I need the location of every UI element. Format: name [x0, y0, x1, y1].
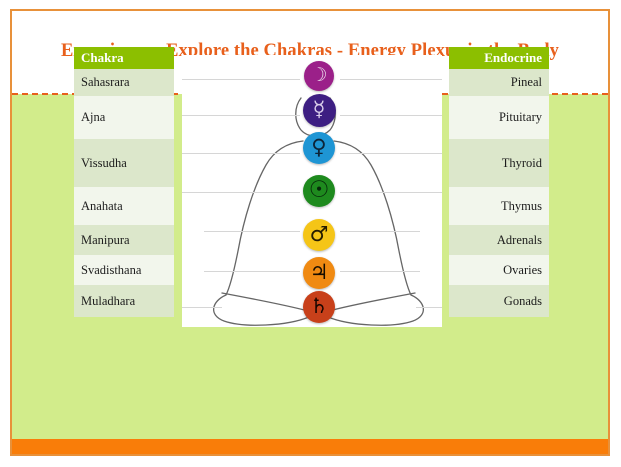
slide-canvas: Experience - Explore the Chakras - Energ…	[10, 9, 610, 456]
connector-line-left	[182, 115, 300, 116]
chakra-label: Sahasrara	[81, 75, 130, 90]
crown-chakra-moon-symbol-icon: ☽	[310, 66, 327, 85]
endocrine-row: Adrenals	[449, 225, 549, 255]
chakra-table: Chakra SahasraraAjnaVissudhaAnahataManip…	[74, 47, 174, 317]
chakra-row: Vissudha	[74, 139, 174, 187]
endocrine-table-rows: PinealPituitaryThyroidThymusAdrenalsOvar…	[449, 69, 549, 317]
chakra-label: Svadisthana	[81, 263, 141, 278]
connector-line-right	[340, 153, 442, 154]
endocrine-row: Thymus	[449, 187, 549, 225]
connector-line-right	[340, 79, 442, 80]
root-chakra-saturn: ♄	[303, 291, 335, 323]
endocrine-table-header: Endocrine	[449, 47, 549, 69]
endocrine-label: Gonads	[504, 294, 542, 309]
chakra-row: Sahasrara	[74, 69, 174, 96]
chakra-label: Ajna	[81, 110, 105, 125]
endocrine-row: Thyroid	[449, 139, 549, 187]
sacral-chakra-jupiter-symbol-icon: ♃	[310, 262, 329, 283]
endocrine-label: Thymus	[501, 199, 542, 214]
chakra-label: Anahata	[81, 199, 123, 214]
endocrine-label: Adrenals	[497, 233, 542, 248]
endocrine-row: Pineal	[449, 69, 549, 96]
connector-line-left	[182, 307, 222, 308]
endocrine-label: Thyroid	[502, 156, 542, 171]
solar-plexus-chakra-mars: ♂	[303, 219, 335, 251]
chakra-label: Muladhara	[81, 294, 135, 309]
endocrine-label: Ovaries	[503, 263, 542, 278]
connector-line-right	[340, 115, 442, 116]
connector-line-right	[340, 231, 420, 232]
chakra-row: Muladhara	[74, 285, 174, 317]
chakra-row: Ajna	[74, 96, 174, 139]
endocrine-row: Ovaries	[449, 255, 549, 285]
chakra-table-header: Chakra	[74, 47, 174, 69]
sacral-chakra-jupiter: ♃	[303, 257, 335, 289]
endocrine-label: Pineal	[511, 75, 542, 90]
chakra-figure-panel: ☽☿♀☉♂♃♄	[182, 55, 442, 327]
chakra-row: Svadisthana	[74, 255, 174, 285]
endocrine-table: Endocrine PinealPituitaryThyroidThymusAd…	[449, 47, 549, 317]
heart-chakra-sun: ☉	[303, 175, 335, 207]
endocrine-row: Pituitary	[449, 96, 549, 139]
chakra-label: Vissudha	[81, 156, 127, 171]
throat-chakra-venus: ♀	[303, 132, 335, 164]
chakra-label: Manipura	[81, 233, 130, 248]
connector-line-left	[204, 271, 300, 272]
connector-line-right	[340, 192, 442, 193]
third-eye-chakra-mercury: ☿	[303, 94, 336, 127]
crown-chakra-moon: ☽	[304, 61, 334, 91]
connector-line-left	[182, 153, 300, 154]
heart-chakra-sun-symbol-icon: ☉	[309, 179, 330, 202]
solar-plexus-chakra-mars-symbol-icon: ♂	[310, 224, 329, 245]
bottom-accent-bar	[12, 439, 608, 456]
chakra-row: Manipura	[74, 225, 174, 255]
connector-line-right	[340, 271, 420, 272]
chakra-table-rows: SahasraraAjnaVissudhaAnahataManipuraSvad…	[74, 69, 174, 317]
chakra-row: Anahata	[74, 187, 174, 225]
endocrine-row: Gonads	[449, 285, 549, 317]
endocrine-label: Pituitary	[499, 110, 542, 125]
connector-line-left	[182, 79, 300, 80]
connector-line-right	[416, 307, 442, 308]
connector-line-left	[182, 192, 300, 193]
connector-line-left	[204, 231, 300, 232]
root-chakra-saturn-symbol-icon: ♄	[310, 296, 329, 317]
throat-chakra-venus-symbol-icon: ♀	[311, 137, 326, 158]
third-eye-chakra-mercury-symbol-icon: ☿	[313, 99, 326, 120]
